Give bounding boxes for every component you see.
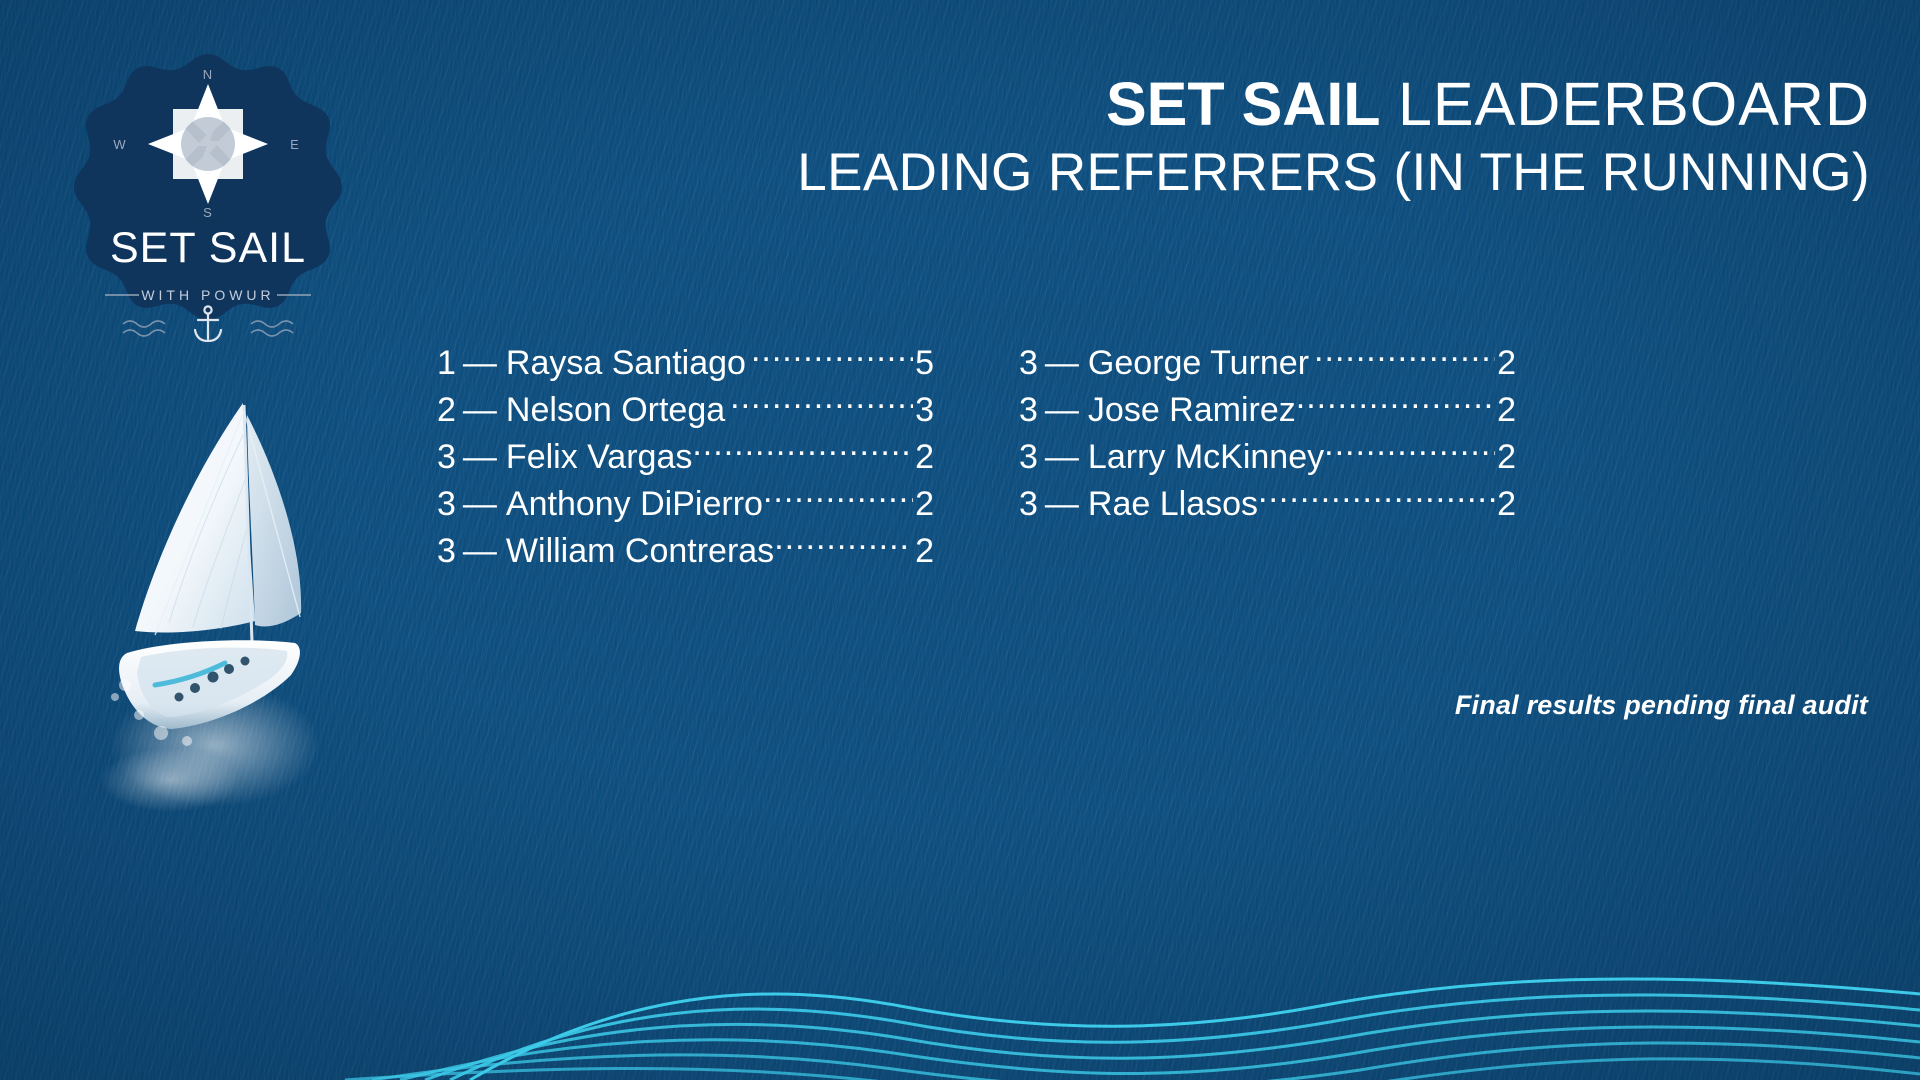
- row-name: Anthony DiPierro: [506, 481, 763, 528]
- leaderboard-row: 3 — George Turner 2: [1019, 340, 1516, 387]
- row-leader-dots: [1258, 481, 1495, 515]
- page-title-bold: SET SAIL: [1106, 70, 1381, 138]
- row-score: 3: [915, 387, 934, 434]
- leaderboard-row: 3 — Anthony DiPierro 2: [437, 481, 934, 528]
- leaderboard-row: 3 — Felix Vargas 2: [437, 434, 934, 481]
- row-separator: —: [456, 387, 506, 434]
- row-score: 2: [915, 434, 934, 481]
- row-name: Felix Vargas: [506, 434, 692, 481]
- sailboat-illustration: [95, 385, 425, 815]
- row-leader-dots: [774, 528, 913, 562]
- header-block: SET SAIL LEADERBOARD LEADING REFERRERS (…: [797, 72, 1870, 202]
- row-name: William Contreras: [506, 528, 774, 575]
- compass-label-e: E: [290, 137, 300, 152]
- leaderboard-row: 3 — William Contreras 2: [437, 528, 934, 575]
- row-leader-dots: [751, 340, 913, 374]
- row-leader-dots: [730, 387, 913, 421]
- leaderboard-row: 3 — Larry McKinney 2: [1019, 434, 1516, 481]
- leaderboard-row: 3 — Jose Ramirez 2: [1019, 387, 1516, 434]
- row-rank: 3: [437, 528, 456, 575]
- page-title-light: LEADERBOARD: [1398, 70, 1870, 138]
- row-name: Jose Ramirez: [1088, 387, 1296, 434]
- row-score: 2: [1497, 434, 1516, 481]
- row-rank: 3: [1019, 434, 1038, 481]
- leaderboard-row: 1 — Raysa Santiago 5: [437, 340, 934, 387]
- row-score: 2: [915, 528, 934, 575]
- decorative-wave-lines: [0, 780, 1920, 1080]
- row-leader-dots: [1324, 434, 1495, 468]
- row-rank: 3: [1019, 387, 1038, 434]
- row-separator: —: [1038, 387, 1088, 434]
- row-name: George Turner: [1088, 340, 1309, 387]
- footnote-text: Final results pending final audit: [1455, 690, 1868, 721]
- row-leader-dots: [692, 434, 913, 468]
- row-leader-dots: [1296, 387, 1495, 421]
- row-rank: 3: [1019, 481, 1038, 528]
- row-rank: 1: [437, 340, 456, 387]
- logo-tagline: WITH POWUR: [141, 287, 274, 303]
- row-name: Raysa Santiago: [506, 340, 746, 387]
- row-rank: 3: [437, 481, 456, 528]
- page-title: SET SAIL LEADERBOARD: [797, 72, 1870, 137]
- leaderboard-column-left: 1 — Raysa Santiago 5 2 — Nelson Ortega 3…: [437, 340, 934, 575]
- leaderboard-row: 3 — Rae Llasos 2: [1019, 481, 1516, 528]
- compass-label-w: W: [113, 137, 126, 152]
- row-name: Larry McKinney: [1088, 434, 1324, 481]
- row-rank: 3: [437, 434, 456, 481]
- row-score: 2: [915, 481, 934, 528]
- leaderboard-row: 2 — Nelson Ortega 3: [437, 387, 934, 434]
- compass-label-n: N: [203, 67, 213, 82]
- row-separator: —: [456, 340, 506, 387]
- logo-brand-name: SET SAIL: [110, 224, 306, 272]
- row-leader-dots: [1314, 340, 1495, 374]
- row-score: 2: [1497, 481, 1516, 528]
- row-score: 2: [1497, 387, 1516, 434]
- row-separator: —: [456, 481, 506, 528]
- row-rank: 3: [1019, 340, 1038, 387]
- set-sail-logo-badge: N W E S SET SAIL WITH POWUR: [63, 52, 353, 342]
- row-rank: 2: [437, 387, 456, 434]
- row-separator: —: [456, 528, 506, 575]
- leaderboard-column-right: 3 — George Turner 2 3 — Jose Ramirez 2 3…: [1019, 340, 1516, 575]
- row-score: 5: [915, 340, 934, 387]
- row-name: Rae Llasos: [1088, 481, 1258, 528]
- compass-label-s: S: [203, 205, 213, 220]
- row-separator: —: [456, 434, 506, 481]
- row-score: 2: [1497, 340, 1516, 387]
- row-separator: —: [1038, 481, 1088, 528]
- row-separator: —: [1038, 434, 1088, 481]
- row-name: Nelson Ortega: [506, 387, 725, 434]
- leaderboard: 1 — Raysa Santiago 5 2 — Nelson Ortega 3…: [437, 340, 1517, 575]
- row-separator: —: [1038, 340, 1088, 387]
- row-leader-dots: [763, 481, 913, 515]
- page-subtitle: LEADING REFERRERS (IN THE RUNNING): [797, 143, 1870, 202]
